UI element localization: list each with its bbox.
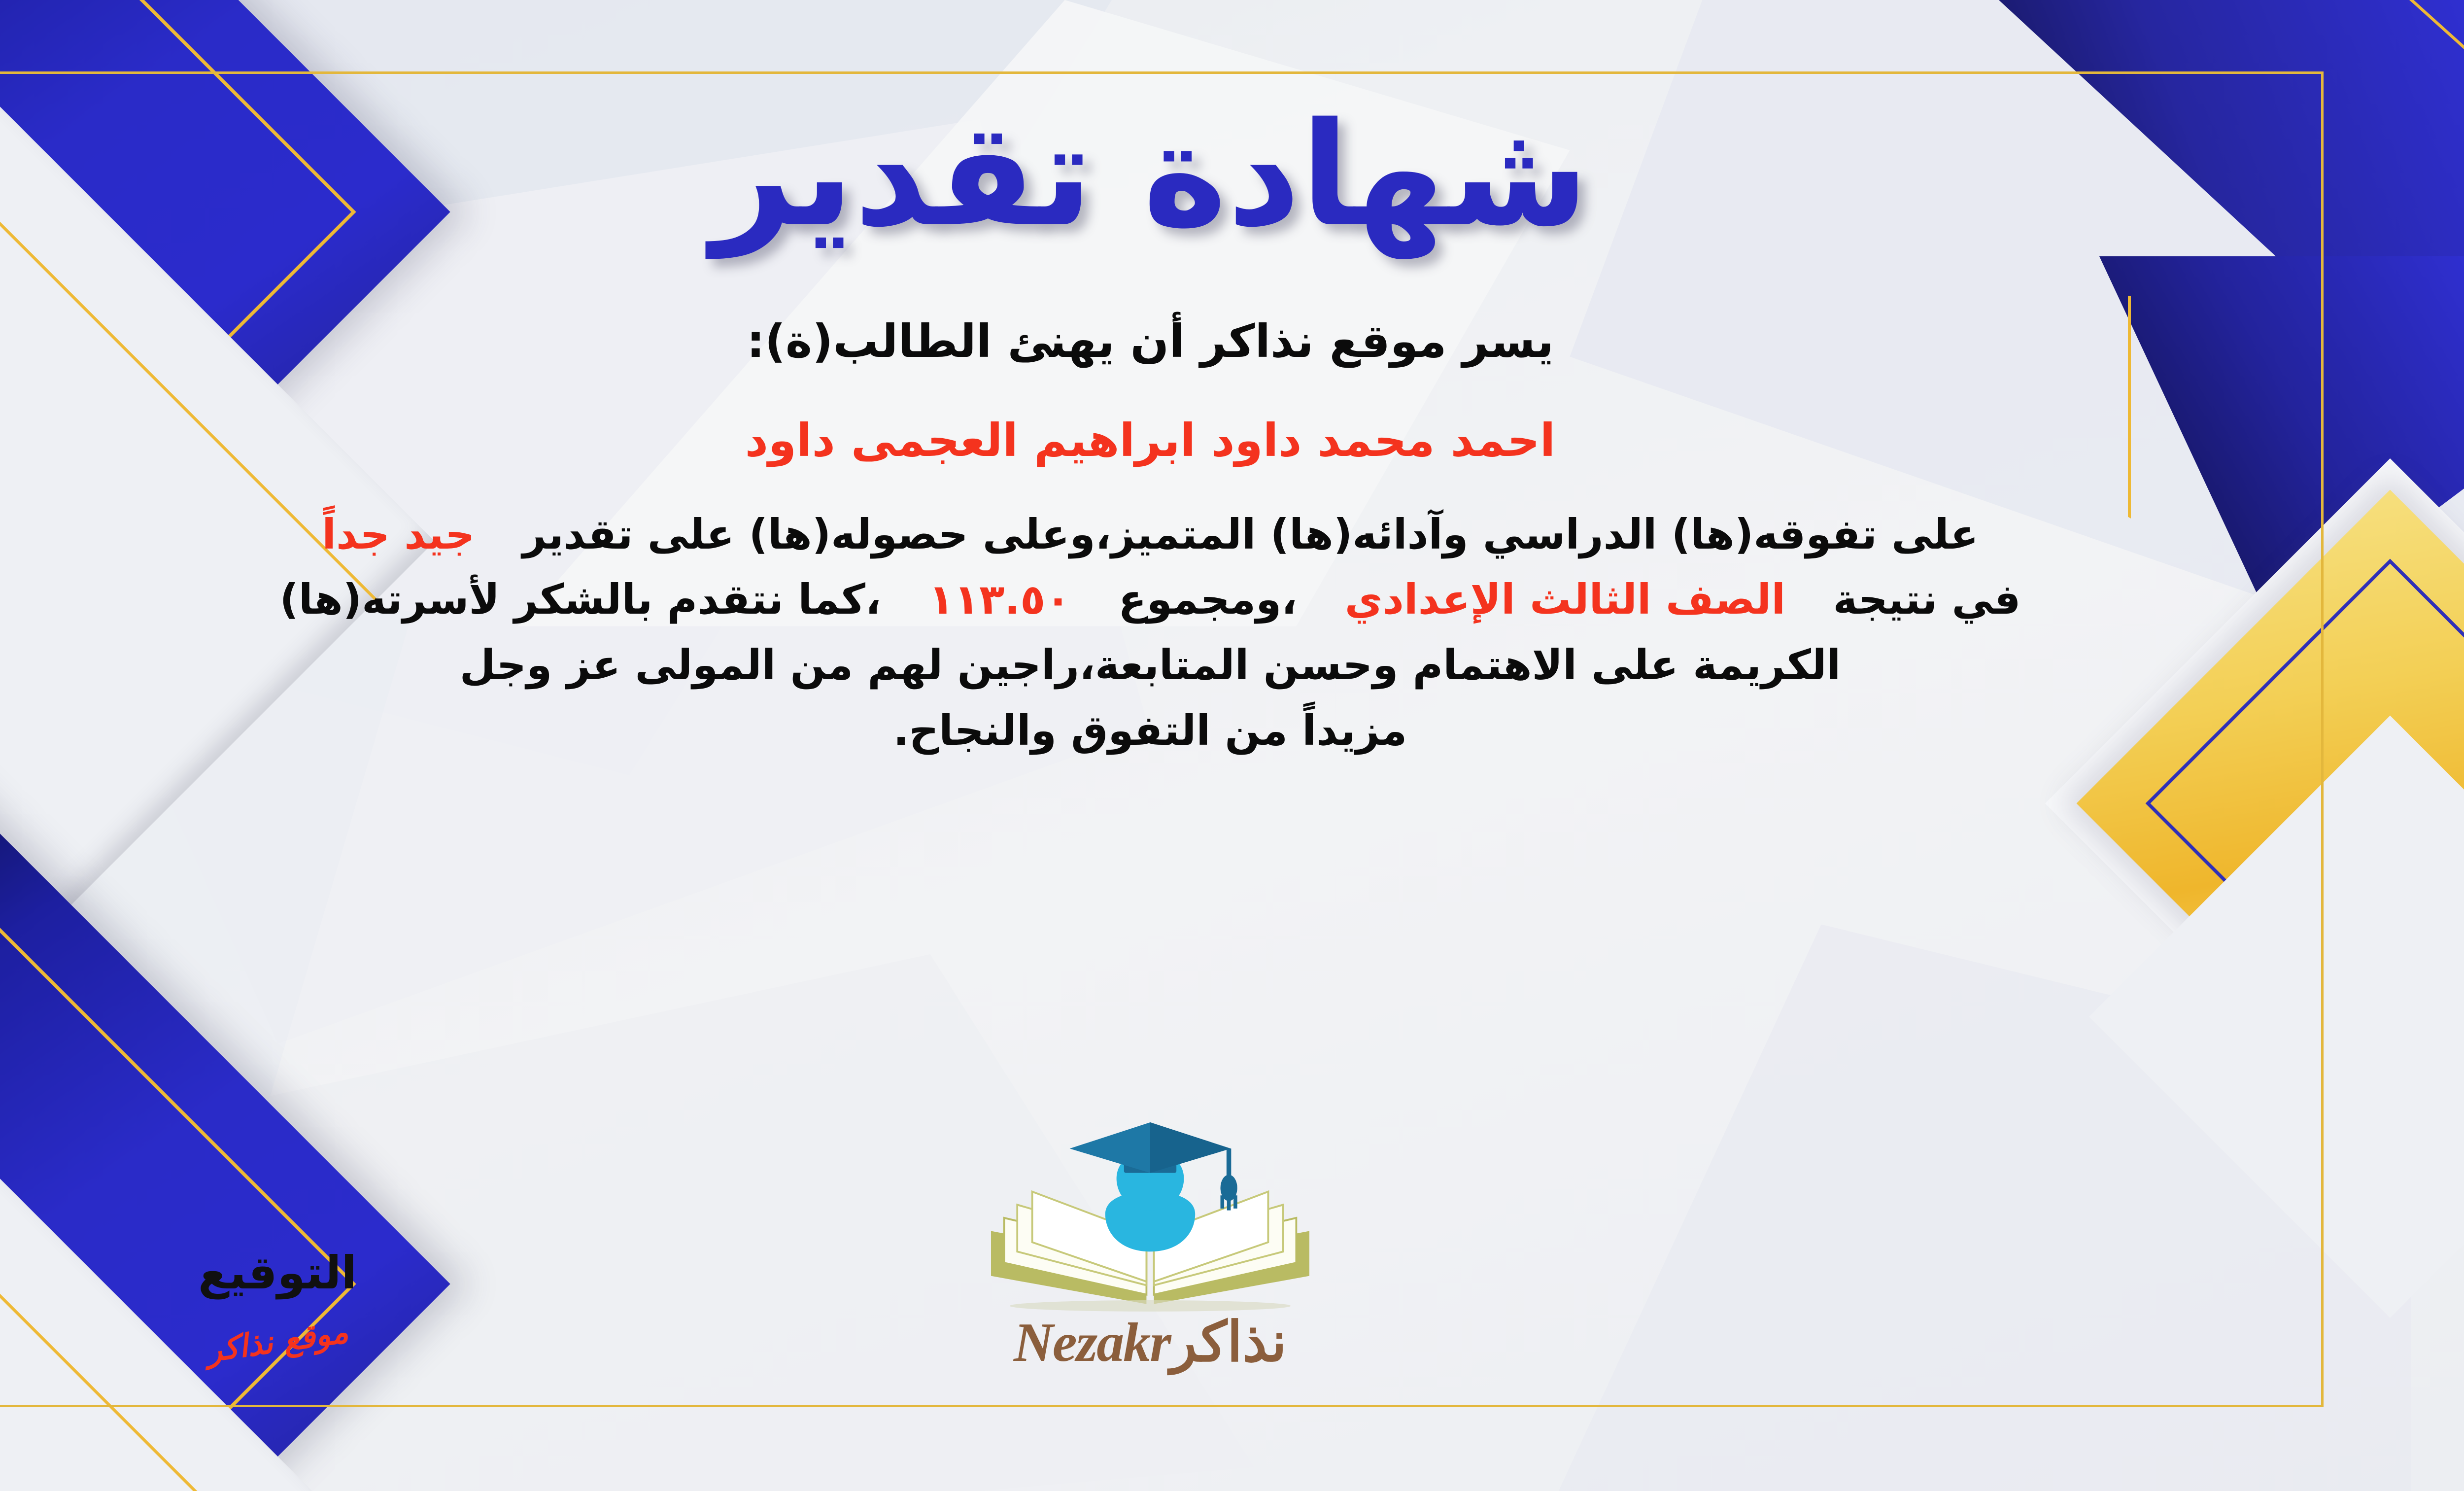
signature-script: موقع نذاكر xyxy=(205,1313,351,1370)
logo-name-latin: Nezakr xyxy=(1014,1312,1170,1373)
graduation-book-icon xyxy=(963,1120,1337,1313)
certificate-footer: التوقيع موقع نذاكر xyxy=(0,1118,2324,1394)
greeting-line: يسر موقع نذاكر أن يهنئ الطالب(ة): xyxy=(0,305,2324,378)
paragraph-part-6: مزيداً من التفوق والنجاح. xyxy=(893,706,1407,755)
certificate-content: شهادة تقدير يسر موقع نذاكر أن يهنئ الطال… xyxy=(0,71,2324,1407)
paragraph-part-4: ،كما نتقدم بالشكر لأسرته(ها) xyxy=(280,575,881,624)
student-name: احمد محمد داود ابراهيم العجمى داود xyxy=(0,404,2324,477)
achievement-paragraph: على تفوقه(ها) الدراسي وآدائه(ها) المتميز… xyxy=(0,502,2324,763)
logo-wordmark: نذاكرNezakr xyxy=(963,1310,1337,1375)
brand-logo: نذاكرNezakr xyxy=(963,1120,1337,1375)
paragraph-part-5: الكريمة على الاهتمام وحسن المتابعة،راجين… xyxy=(460,641,1841,689)
certificate-body: يسر موقع نذاكر أن يهنئ الطالب(ة): احمد م… xyxy=(0,305,2324,763)
class-name: الصف الثالث الإعدادي xyxy=(1345,575,1785,624)
paragraph-part-3: ،ومجموع xyxy=(1118,575,1297,624)
paragraph-part-1: على تفوقه(ها) الدراسي وآدائه(ها) المتميز… xyxy=(522,510,1979,558)
certificate-canvas: شهادة تقدير يسر موقع نذاكر أن يهنئ الطال… xyxy=(0,0,2464,1491)
certificate-title: شهادة تقدير xyxy=(712,86,1589,265)
logo-name-arabic: نذاكر xyxy=(1170,1310,1287,1374)
signature-block: التوقيع موقع نذاكر xyxy=(139,1247,415,1360)
paragraph-part-2: في نتيجة xyxy=(1833,575,2021,624)
grade-label: جيد جداً xyxy=(322,510,475,558)
total-score: ١١٣.٥٠ xyxy=(928,575,1070,624)
signature-label: التوقيع xyxy=(139,1247,415,1299)
